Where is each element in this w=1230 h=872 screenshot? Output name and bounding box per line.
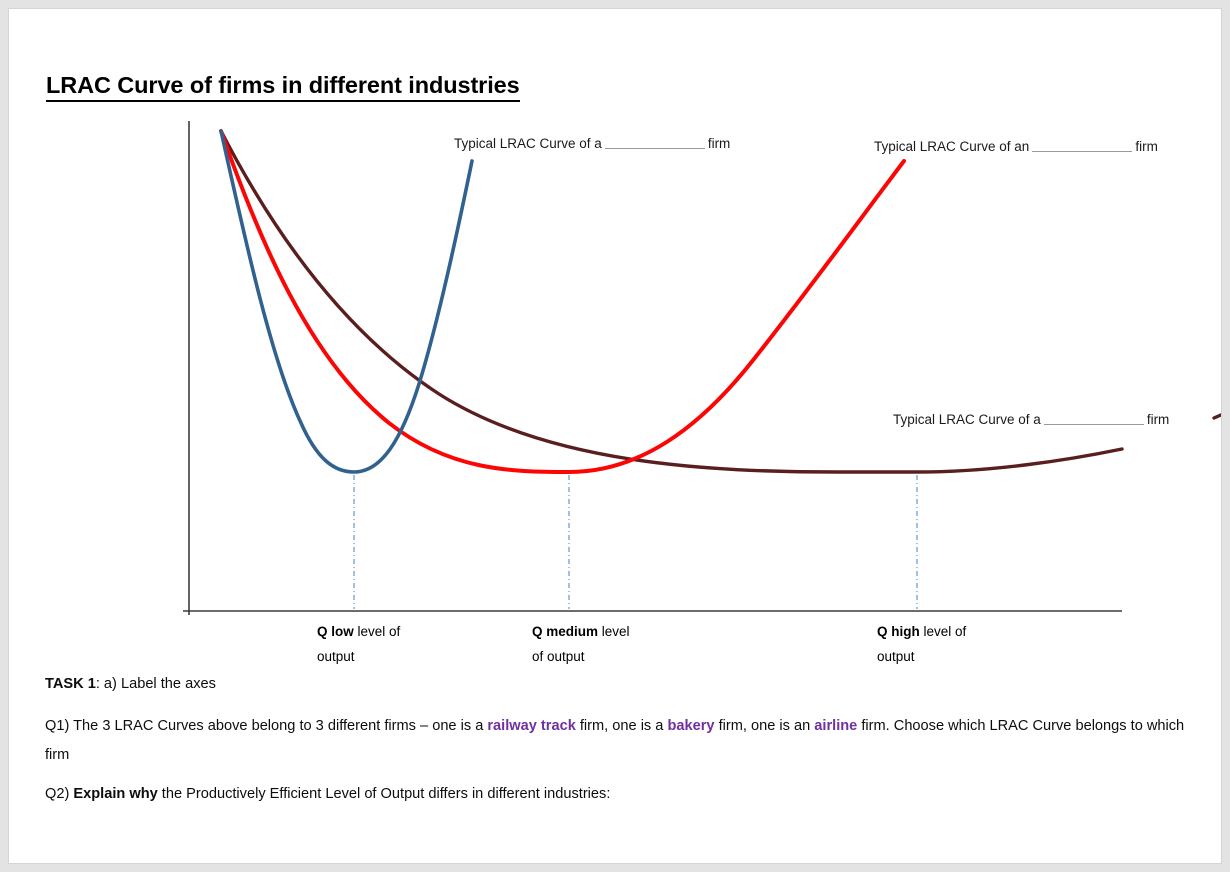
axis-label-q-high-line2: output (877, 644, 966, 669)
axis-label-q-medium-bold: Q medium (532, 624, 598, 639)
q1-term-railway-track: railway track (487, 718, 575, 734)
task1-rest: : a) Label the axes (96, 676, 216, 692)
blank-fill-line[interactable] (1032, 140, 1132, 152)
q2-prefix: Q2) (45, 786, 73, 802)
axis-label-q-low-bold: Q low (317, 624, 354, 639)
question2-paragraph: Q2) Explain why the Productively Efficie… (45, 780, 1045, 809)
callout-red-prefix: Typical LRAC Curve of an (874, 139, 1029, 154)
callout-blue-curve: Typical LRAC Curve of afirm (454, 137, 730, 152)
callout-blue-prefix: Typical LRAC Curve of a (454, 136, 602, 151)
q1-part3: firm, one is an (715, 718, 815, 734)
callout-maroon-prefix: Typical LRAC Curve of a (893, 412, 1041, 427)
blank-fill-line[interactable] (605, 137, 705, 149)
axis-label-q-medium-rest: level (598, 624, 630, 639)
axis-label-q-medium: Q medium level of output (532, 619, 630, 669)
document-page: LRAC Curve of firms in different industr… (8, 8, 1222, 864)
callout-maroon-curve: Typical LRAC Curve of afirm (893, 413, 1169, 428)
q1-part1: Q1) The 3 LRAC Curves above belong to 3 … (45, 718, 487, 734)
axis-label-q-low: Q low level of output (317, 619, 400, 669)
lrac-chart (9, 9, 1222, 679)
axis-label-q-high: Q high level of output (877, 619, 966, 669)
maroon-leader-segment (1214, 408, 1222, 418)
question1-paragraph: Q1) The 3 LRAC Curves above belong to 3 … (45, 712, 1205, 770)
axis-label-q-medium-line2: of output (532, 644, 630, 669)
callout-maroon-suffix: firm (1147, 412, 1170, 427)
axis-label-q-low-rest: level of (354, 624, 401, 639)
q1-part2: firm, one is a (576, 718, 668, 734)
axis-label-q-high-rest: level of (920, 624, 967, 639)
callout-red-curve: Typical LRAC Curve of anfirm (874, 140, 1158, 155)
callout-blue-suffix: firm (708, 136, 731, 151)
lrac-curve-red (221, 131, 904, 472)
lrac-curve-blue (221, 131, 472, 472)
q2-bold: Explain why (73, 786, 157, 802)
blank-fill-line[interactable] (1044, 413, 1144, 425)
axis-label-q-high-bold: Q high (877, 624, 920, 639)
q1-term-airline: airline (814, 718, 857, 734)
task1-line: TASK 1: a) Label the axes (45, 670, 745, 699)
callout-red-suffix: firm (1135, 139, 1158, 154)
q2-rest: the Productively Efficient Level of Outp… (158, 786, 611, 802)
q1-term-bakery: bakery (667, 718, 714, 734)
axis-label-q-low-line2: output (317, 644, 400, 669)
task1-bold: TASK 1 (45, 676, 96, 692)
